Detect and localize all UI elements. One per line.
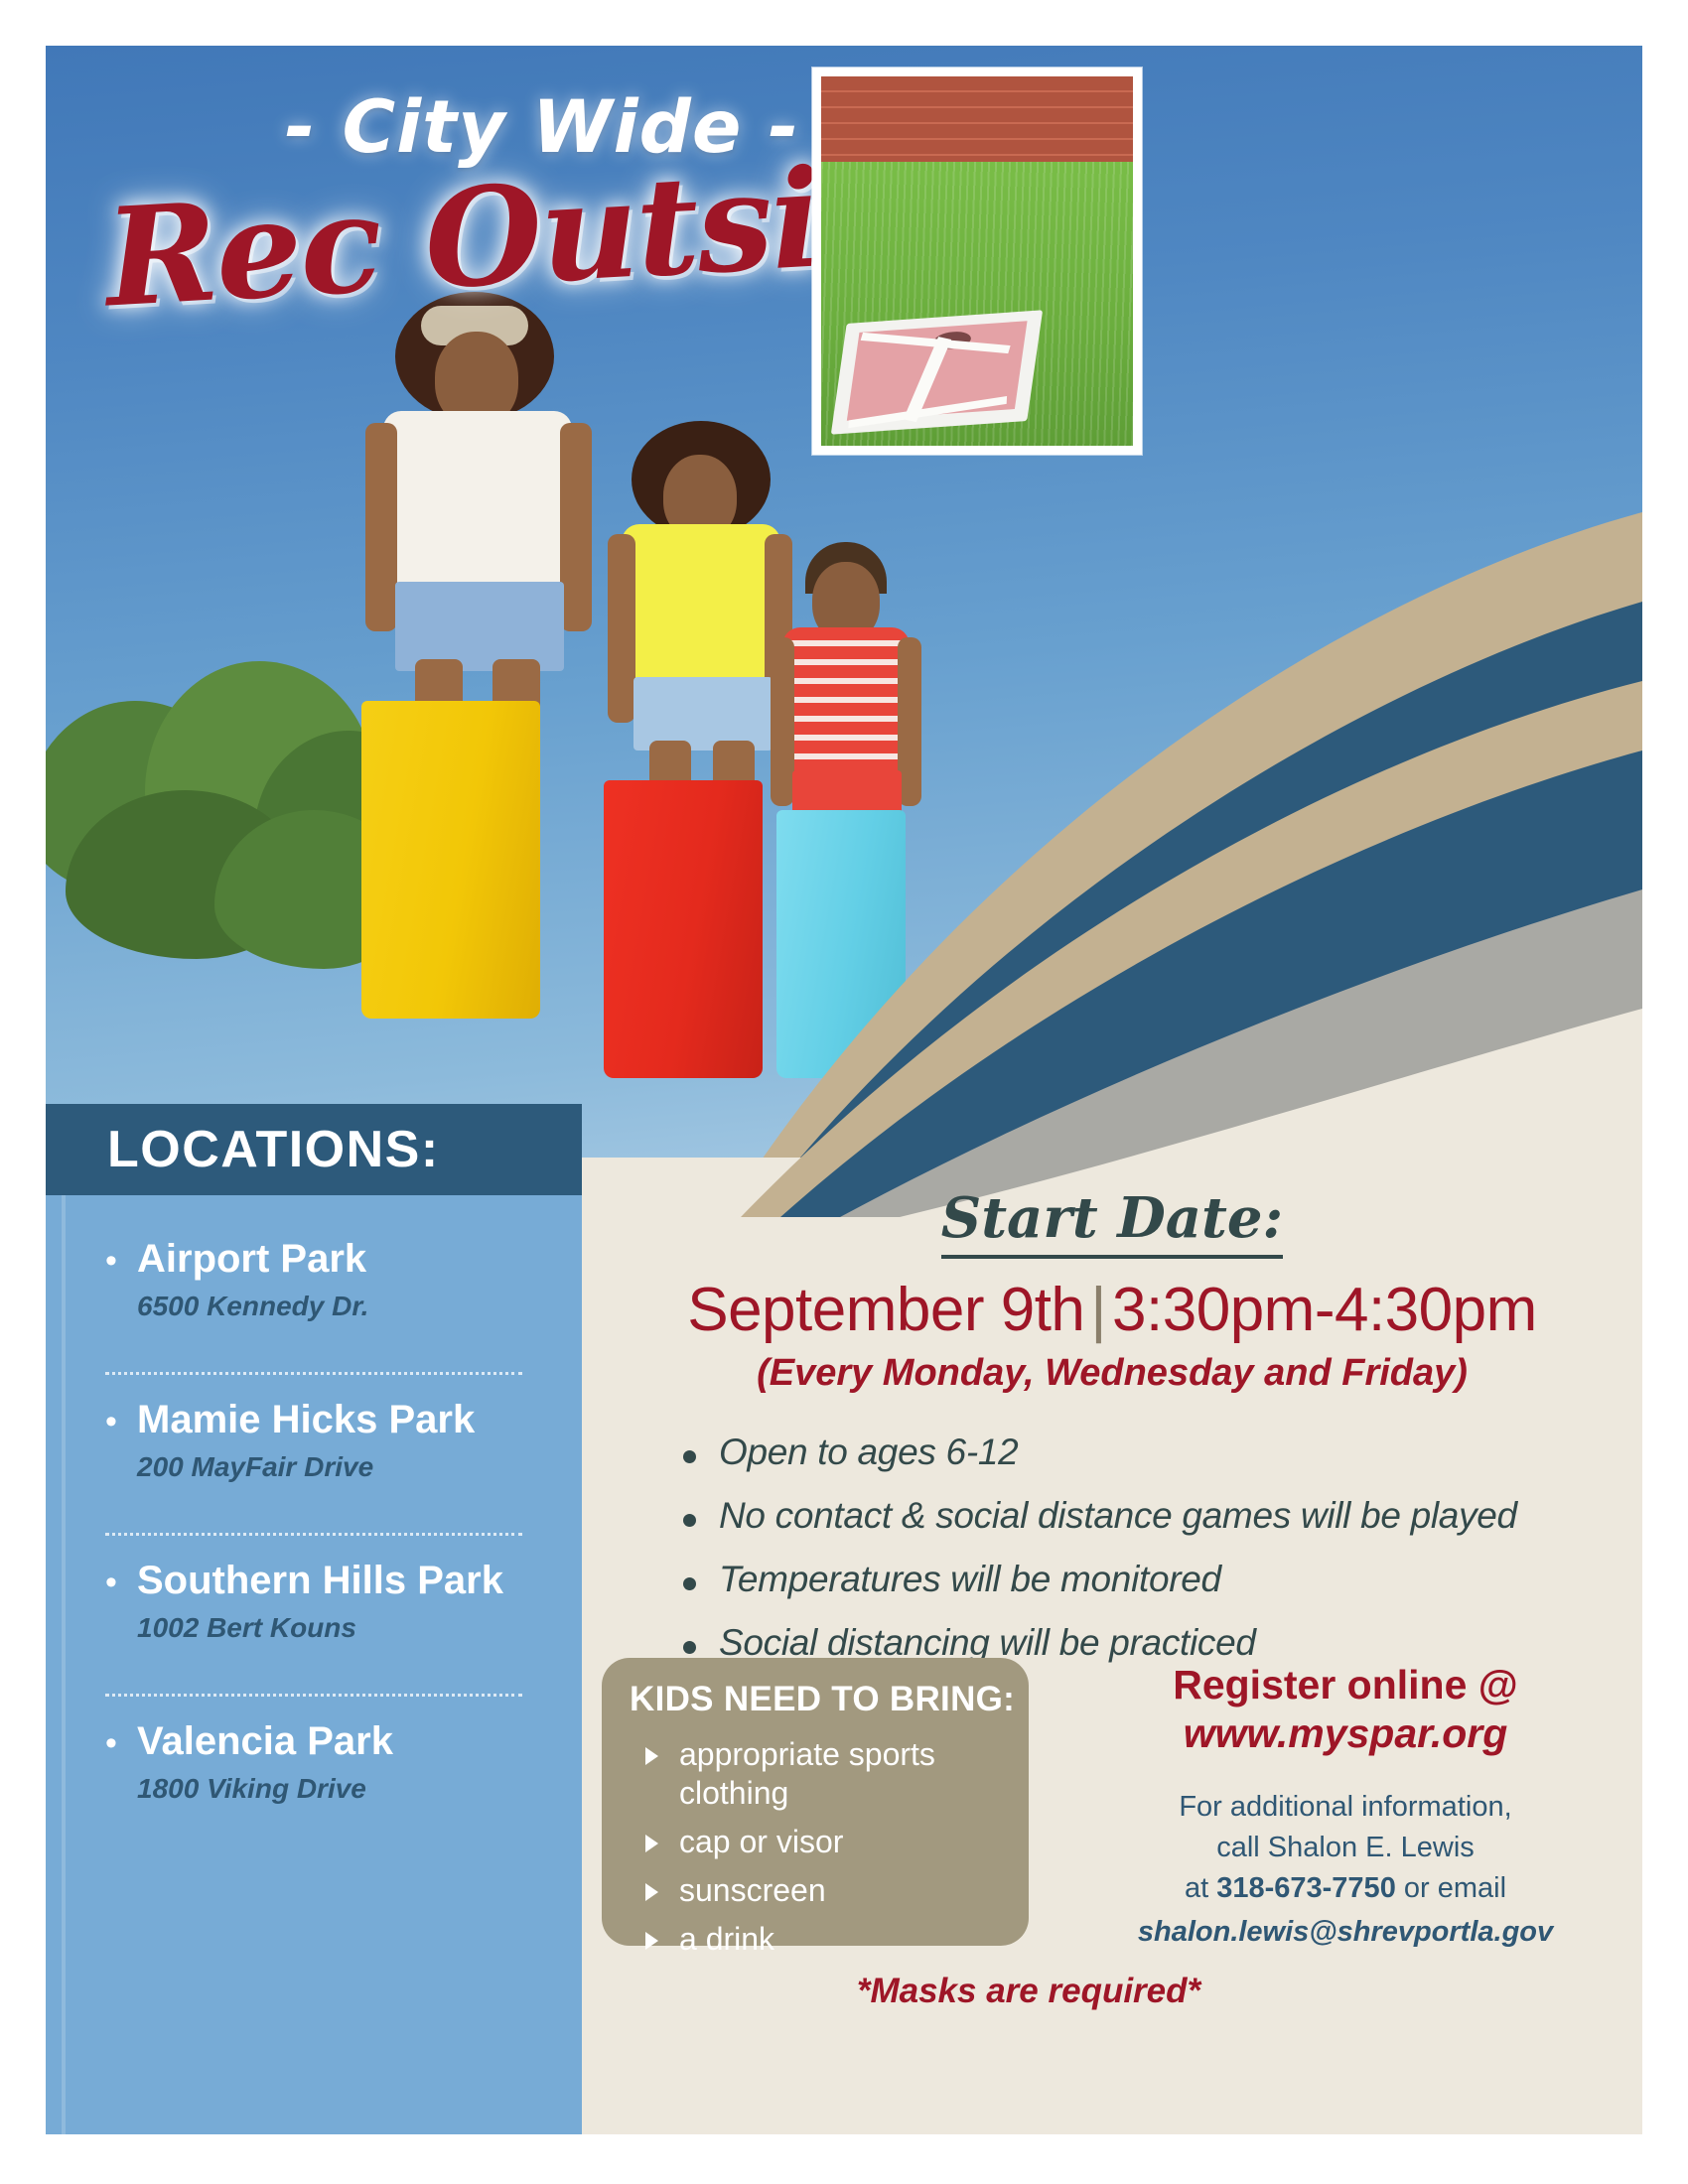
location-item[interactable]: • Mamie Hicks Park 200 MayFair Drive	[105, 1398, 552, 1483]
location-item[interactable]: • Airport Park 6500 Kennedy Dr.	[105, 1237, 552, 1322]
locations-heading: LOCATIONS:	[107, 1120, 440, 1179]
contact-suffix: or email	[1396, 1872, 1506, 1904]
info-bullet: No contact & social distance games will …	[673, 1495, 1642, 1537]
start-date-value: September 9th	[687, 1276, 1084, 1344]
main-content: Start Date: September 9th|3:30pm-4:30pm …	[582, 1195, 1642, 2134]
time-value: 3:30pm-4:30pm	[1112, 1276, 1537, 1344]
location-address: 6500 Kennedy Dr.	[137, 1291, 552, 1322]
info-bullet: Open to ages 6-12	[673, 1432, 1642, 1473]
location-name: Valencia Park	[137, 1719, 393, 1764]
info-bullet: Temperatures will be monitored	[673, 1559, 1642, 1600]
location-address: 1002 Bert Kouns	[137, 1612, 552, 1644]
bullet-icon: •	[105, 1244, 137, 1278]
hero-photo-area: - City Wide - Rec Outside	[46, 46, 1642, 1158]
location-divider	[105, 1533, 522, 1536]
email-address[interactable]: shalon.lewis@shrevportla.gov	[1049, 1912, 1642, 1953]
location-address: 1800 Viking Drive	[137, 1773, 552, 1805]
kids-bring-heading: KIDS NEED TO BRING:	[630, 1680, 1015, 1719]
recurrence-text: (Every Monday, Wednesday and Friday)	[582, 1352, 1642, 1395]
contact-phone-line: at 318-673-7750 or email	[1049, 1868, 1642, 1909]
masks-required-note: *Masks are required*	[582, 1972, 1476, 2011]
register-url[interactable]: www.myspar.org	[1049, 1710, 1642, 1757]
location-item[interactable]: • Valencia Park 1800 Viking Drive	[105, 1719, 552, 1805]
bullet-icon: •	[105, 1726, 137, 1760]
phone-number[interactable]: 318-673-7750	[1216, 1872, 1396, 1904]
register-block: Register online @ www.myspar.org For add…	[1049, 1662, 1642, 1953]
kids-bring-item: sunscreen	[637, 1871, 1015, 1910]
bullet-icon: •	[105, 1566, 137, 1599]
kids-need-to-bring-box: KIDS NEED TO BRING: appropriate sports c…	[602, 1658, 1029, 1946]
locations-header-bar: LOCATIONS:	[46, 1104, 582, 1195]
kids-bring-list: appropriate sports clothing cap or visor…	[637, 1735, 1015, 1969]
date-time-line: September 9th|3:30pm-4:30pm	[582, 1275, 1642, 1345]
kids-bring-item: a drink	[637, 1920, 1015, 1959]
flyer-page: - City Wide - Rec Outside	[46, 46, 1642, 2134]
start-date-label: Start Date:	[582, 1185, 1642, 1251]
kids-bring-item: appropriate sports clothing	[637, 1735, 1015, 1813]
kids-bring-item: cap or visor	[637, 1823, 1015, 1861]
contact-line-2: call Shalon E. Lewis	[1049, 1828, 1642, 1868]
running-track	[821, 76, 1133, 162]
contact-info: For additional information, call Shalon …	[1049, 1787, 1642, 1953]
location-item[interactable]: • Southern Hills Park 1002 Bert Kouns	[105, 1559, 552, 1644]
location-divider	[105, 1372, 522, 1375]
location-name: Airport Park	[137, 1237, 366, 1282]
locations-panel: • Airport Park 6500 Kennedy Dr. • Mamie …	[46, 1195, 582, 2134]
contact-prefix: at	[1185, 1872, 1216, 1904]
info-bullet-list: Open to ages 6-12 No contact & social di…	[633, 1432, 1642, 1686]
location-name: Mamie Hicks Park	[137, 1398, 475, 1442]
separator: |	[1084, 1276, 1112, 1344]
start-date-label-text: Start Date:	[941, 1185, 1283, 1259]
register-label: Register online @	[1049, 1662, 1642, 1708]
location-divider	[105, 1694, 522, 1697]
location-address: 200 MayFair Drive	[137, 1451, 552, 1483]
cornhole-photo-inset	[812, 68, 1142, 455]
location-name: Southern Hills Park	[137, 1559, 503, 1603]
bullet-icon: •	[105, 1405, 137, 1438]
contact-line-1: For additional information,	[1049, 1787, 1642, 1828]
cornhole-board	[831, 310, 1043, 434]
